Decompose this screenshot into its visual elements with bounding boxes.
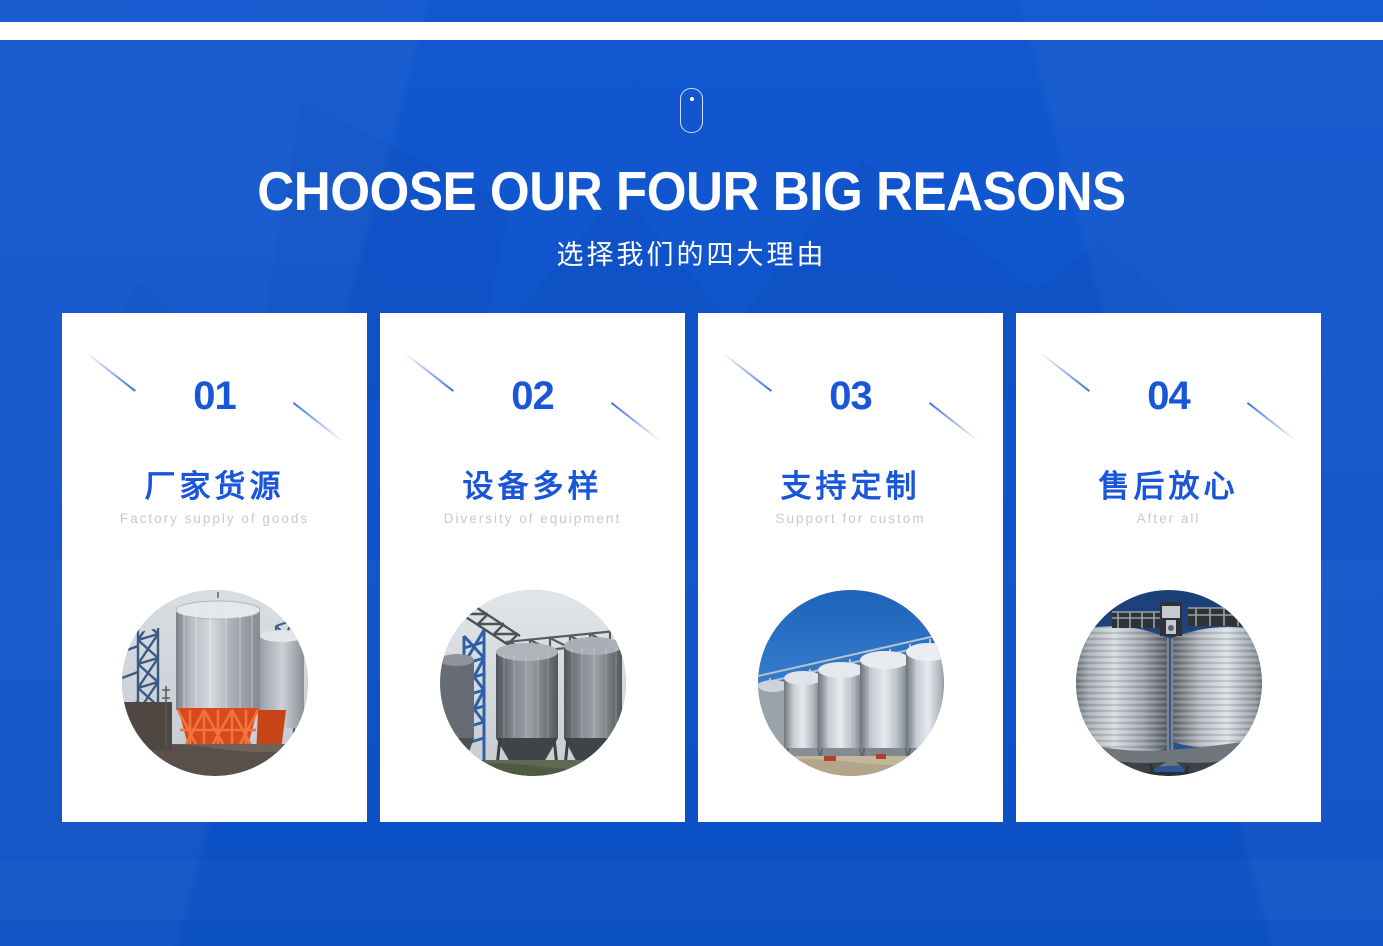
card-number-row: 03: [698, 365, 1003, 427]
page-title: CHOOSE OUR FOUR BIG REASONS: [48, 163, 1334, 219]
card-title-en: Diversity of equipment: [402, 509, 663, 529]
reasons-card-grid: 01 厂家货源 Factory supply of goods: [62, 313, 1321, 822]
reason-card-03[interactable]: 03 支持定制 Support for custom: [698, 313, 1003, 822]
decorative-slash-right-icon: [293, 402, 343, 441]
card-title-cn: 厂家货源: [62, 461, 367, 506]
decorative-slash-right-icon: [929, 402, 979, 441]
card-title-en: Factory supply of goods: [84, 509, 345, 529]
card-photo-two-corrugated-silos: [1076, 590, 1262, 776]
card-title-cn: 设备多样: [380, 461, 685, 506]
section-header: CHOOSE OUR FOUR BIG REASONS 选择我们的四大理由: [0, 0, 1383, 272]
decorative-slash-right-icon: [1247, 402, 1297, 441]
card-photo-silo-orange-frame: [122, 590, 308, 776]
card-number: 04: [1147, 376, 1190, 416]
scroll-mouse-wheel-dot: [690, 97, 694, 101]
card-title-cn: 支持定制: [698, 461, 1003, 506]
card-number-row: 01: [62, 365, 367, 427]
card-title-en: Support for custom: [720, 509, 981, 529]
reason-card-01[interactable]: 01 厂家货源 Factory supply of goods: [62, 313, 367, 822]
reason-card-04[interactable]: 04 售后放心 After all: [1016, 313, 1321, 822]
reason-card-02[interactable]: 02 设备多样 Diversity of equipment: [380, 313, 685, 822]
page-subtitle: 选择我们的四大理由: [0, 233, 1383, 272]
card-title-en: After all: [1038, 509, 1299, 529]
card-photo-silo-row-blue-sky: [758, 590, 944, 776]
decorative-slash-left-icon: [1040, 352, 1090, 391]
card-number-row: 02: [380, 365, 685, 427]
background-streak: [0, 860, 1383, 920]
scroll-mouse-icon[interactable]: [680, 88, 703, 133]
decorative-slash-left-icon: [722, 352, 772, 391]
card-title-cn: 售后放心: [1016, 461, 1321, 506]
card-number: 02: [511, 376, 554, 416]
decorative-slash-left-icon: [404, 352, 454, 391]
card-number-row: 04: [1016, 365, 1321, 427]
decorative-slash-right-icon: [611, 402, 661, 441]
card-photo-silos-with-gantry: [440, 590, 626, 776]
card-number: 01: [193, 376, 236, 416]
card-number: 03: [829, 376, 872, 416]
decorative-slash-left-icon: [86, 352, 136, 391]
